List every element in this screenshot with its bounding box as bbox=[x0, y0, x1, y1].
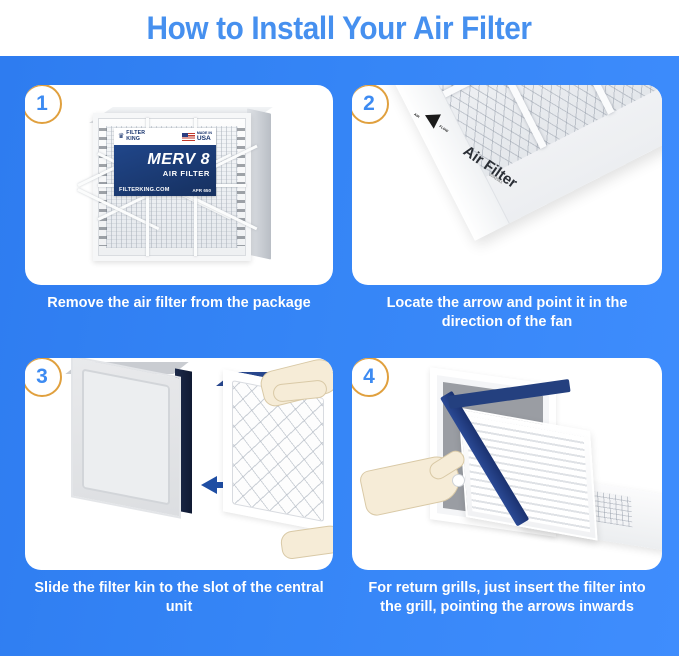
step-card-4: «« 4 For return grills, just insert the … bbox=[352, 358, 662, 617]
crown-icon: ♛ bbox=[118, 133, 124, 140]
usa-flag-icon bbox=[182, 133, 195, 141]
step-2-image-card: AIR FLOW Air Filter 20x20x1 2 bbox=[352, 85, 662, 285]
merv-rating: MERV 8 bbox=[114, 151, 210, 168]
product-type: AIR FILTER bbox=[114, 169, 210, 178]
apr-rating: APR 650 bbox=[192, 188, 211, 193]
filter-product-label: ♛ FILTER KING bbox=[114, 128, 216, 196]
filter-king-logo: ♛ FILTER KING bbox=[118, 131, 145, 142]
central-unit-inner bbox=[82, 368, 170, 505]
label-main-panel: MERV 8 AIR FILTER FILTERKING.COM APR 650 bbox=[114, 145, 216, 196]
return-grill-illustration: «« bbox=[352, 358, 662, 570]
step-1-image-card: ♛ FILTER KING bbox=[25, 85, 333, 285]
step-card-2: AIR FLOW Air Filter 20x20x1 2 Locate the… bbox=[352, 85, 662, 332]
step-card-1: ♛ FILTER KING bbox=[25, 85, 333, 313]
infographic-page: How to Install Your Air Filter bbox=[0, 0, 679, 656]
airflow-label-top: AIR bbox=[413, 112, 420, 119]
website-text: FILTERKING.COM bbox=[119, 187, 170, 193]
brand-text: FILTER KING bbox=[126, 131, 145, 142]
label-header-row: ♛ FILTER KING bbox=[114, 128, 216, 145]
filter-corner-body: AIR FLOW Air Filter 20x20x1 bbox=[366, 85, 662, 241]
merv8-filter-illustration: ♛ FILTER KING bbox=[25, 85, 333, 285]
step-caption-4: For return grills, just insert the filte… bbox=[352, 579, 662, 617]
step-4-image-card: «« 4 bbox=[352, 358, 662, 570]
step-3-image-card: 3 bbox=[25, 358, 333, 570]
grill-louvers bbox=[466, 416, 590, 533]
filter-corner-illustration: AIR FLOW Air Filter 20x20x1 bbox=[352, 85, 662, 285]
slide-filter-illustration bbox=[25, 358, 333, 570]
grill-latch-knob bbox=[452, 474, 465, 487]
hand-lower bbox=[279, 524, 333, 561]
step-caption-1: Remove the air filter from the package bbox=[25, 294, 333, 313]
central-unit-slot bbox=[71, 358, 181, 519]
filter-front-face: ♛ FILTER KING bbox=[93, 113, 251, 261]
step-caption-2: Locate the arrow and point it in the dir… bbox=[352, 294, 662, 332]
step-caption-3: Slide the filter kin to the slot of the … bbox=[25, 579, 333, 617]
page-title: How to Install Your Air Filter bbox=[147, 10, 532, 47]
filter-arrow-marking: «« bbox=[580, 420, 593, 432]
header: How to Install Your Air Filter bbox=[0, 0, 679, 56]
made-in-usa-badge: MADE IN USA bbox=[182, 131, 212, 142]
airflow-label-bottom: FLOW bbox=[438, 124, 448, 133]
steps-grid: ♛ FILTER KING bbox=[0, 56, 679, 656]
step-card-3: 3 Slide the filter kin to the slot of th… bbox=[25, 358, 333, 617]
made-in-usa-text: MADE IN USA bbox=[197, 131, 212, 142]
label-footer-row: FILTERKING.COM APR 650 bbox=[119, 187, 211, 193]
